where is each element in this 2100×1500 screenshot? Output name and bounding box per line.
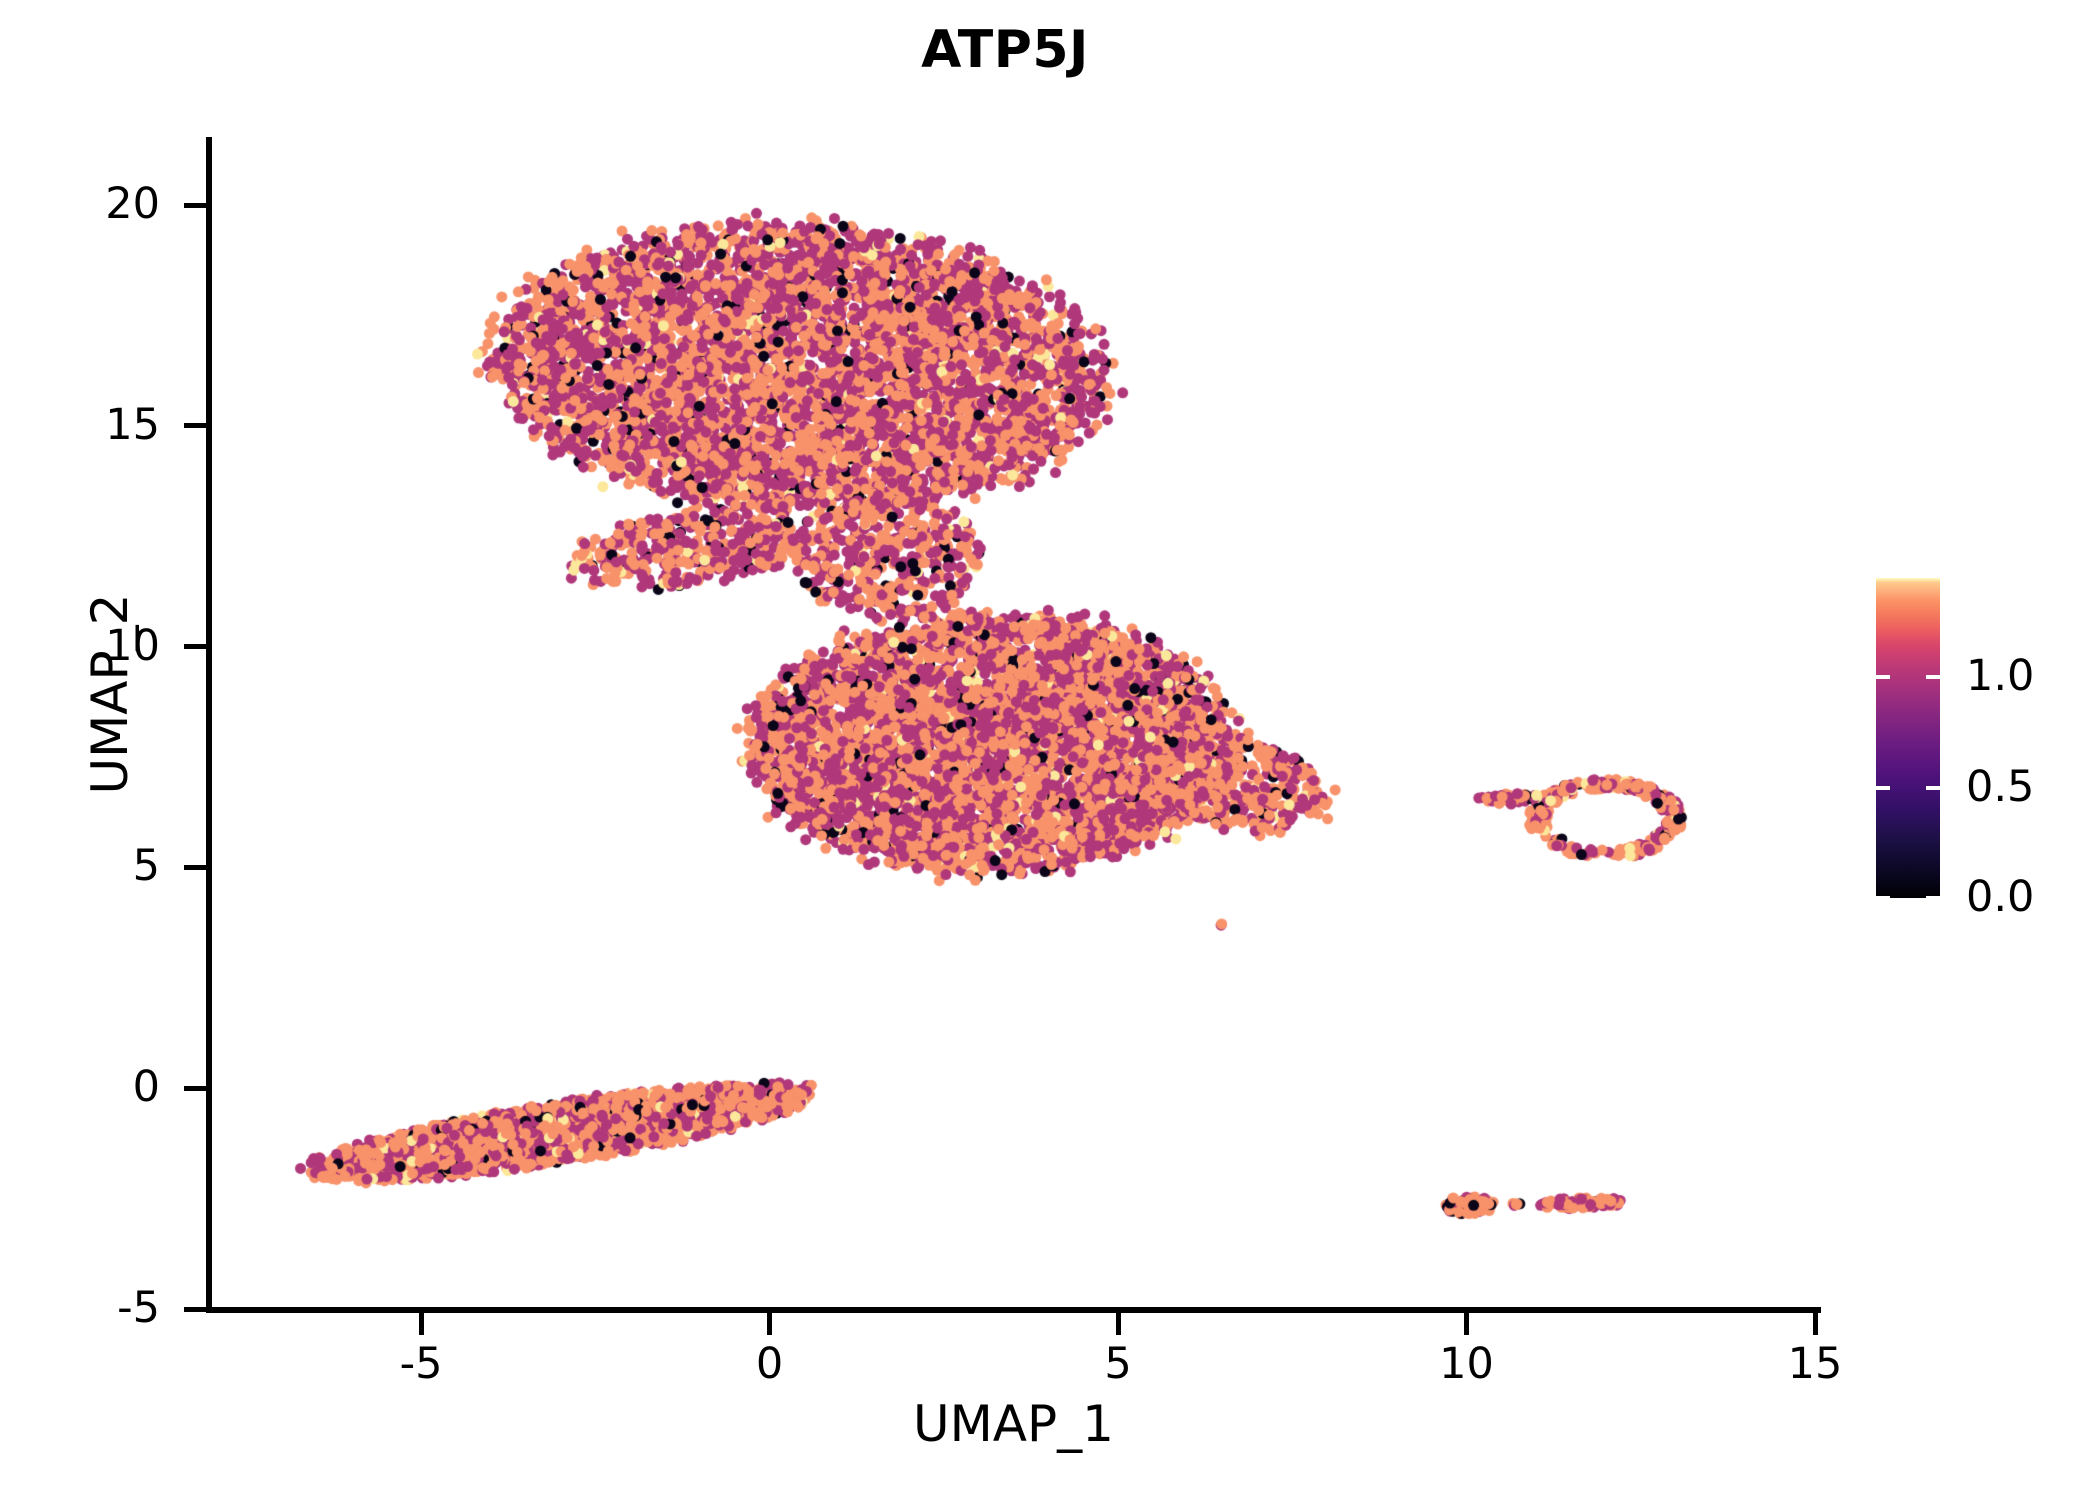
x-tick-mark (767, 1313, 772, 1335)
x-tick-label: 15 (1715, 1343, 1915, 1386)
y-tick-mark (184, 1307, 206, 1312)
y-tick-mark (184, 423, 206, 428)
y-axis-label: UMAP_2 (81, 294, 139, 1094)
colorbar-gradient[interactable] (1876, 578, 1940, 898)
scatter-canvas[interactable] (212, 141, 1815, 1309)
y-tick-mark (184, 644, 206, 649)
colorbar-tick-label: 0.0 (1966, 876, 2100, 919)
x-tick-label: -5 (321, 1343, 521, 1386)
page-title: ATP5J (0, 20, 2010, 80)
x-axis-label: UMAP_1 (212, 1395, 1815, 1453)
x-tick-mark (1116, 1313, 1121, 1335)
y-tick-mark (184, 203, 206, 208)
x-tick-mark (1813, 1313, 1818, 1335)
colorbar-tick-mark (1876, 675, 1890, 679)
colorbar-tick-label: 0.5 (1966, 766, 2100, 809)
x-tick-label: 0 (670, 1343, 870, 1386)
colorbar-tick-mark (1876, 896, 1890, 900)
x-tick-mark (1464, 1313, 1469, 1335)
figure-canvas: ATP5J -505101520 -5051015 UMAP_1 UMAP_2 … (0, 0, 2100, 1500)
y-tick-label: 20 (10, 183, 160, 226)
y-axis-spine (206, 137, 212, 1313)
x-axis-spine (206, 1307, 1821, 1313)
colorbar-tick-mark (1876, 786, 1890, 790)
y-tick-label: -5 (10, 1287, 160, 1330)
x-tick-label: 5 (1018, 1343, 1218, 1386)
x-tick-label: 10 (1367, 1343, 1567, 1386)
y-tick-mark (184, 865, 206, 870)
colorbar-tick-mark (1926, 786, 1940, 790)
colorbar-tick-mark (1926, 896, 1940, 900)
colorbar-tick-mark (1926, 675, 1940, 679)
colorbar-tick-label: 1.0 (1966, 655, 2100, 698)
y-tick-mark (184, 1086, 206, 1091)
x-tick-mark (419, 1313, 424, 1335)
plot-area[interactable] (212, 141, 1815, 1309)
